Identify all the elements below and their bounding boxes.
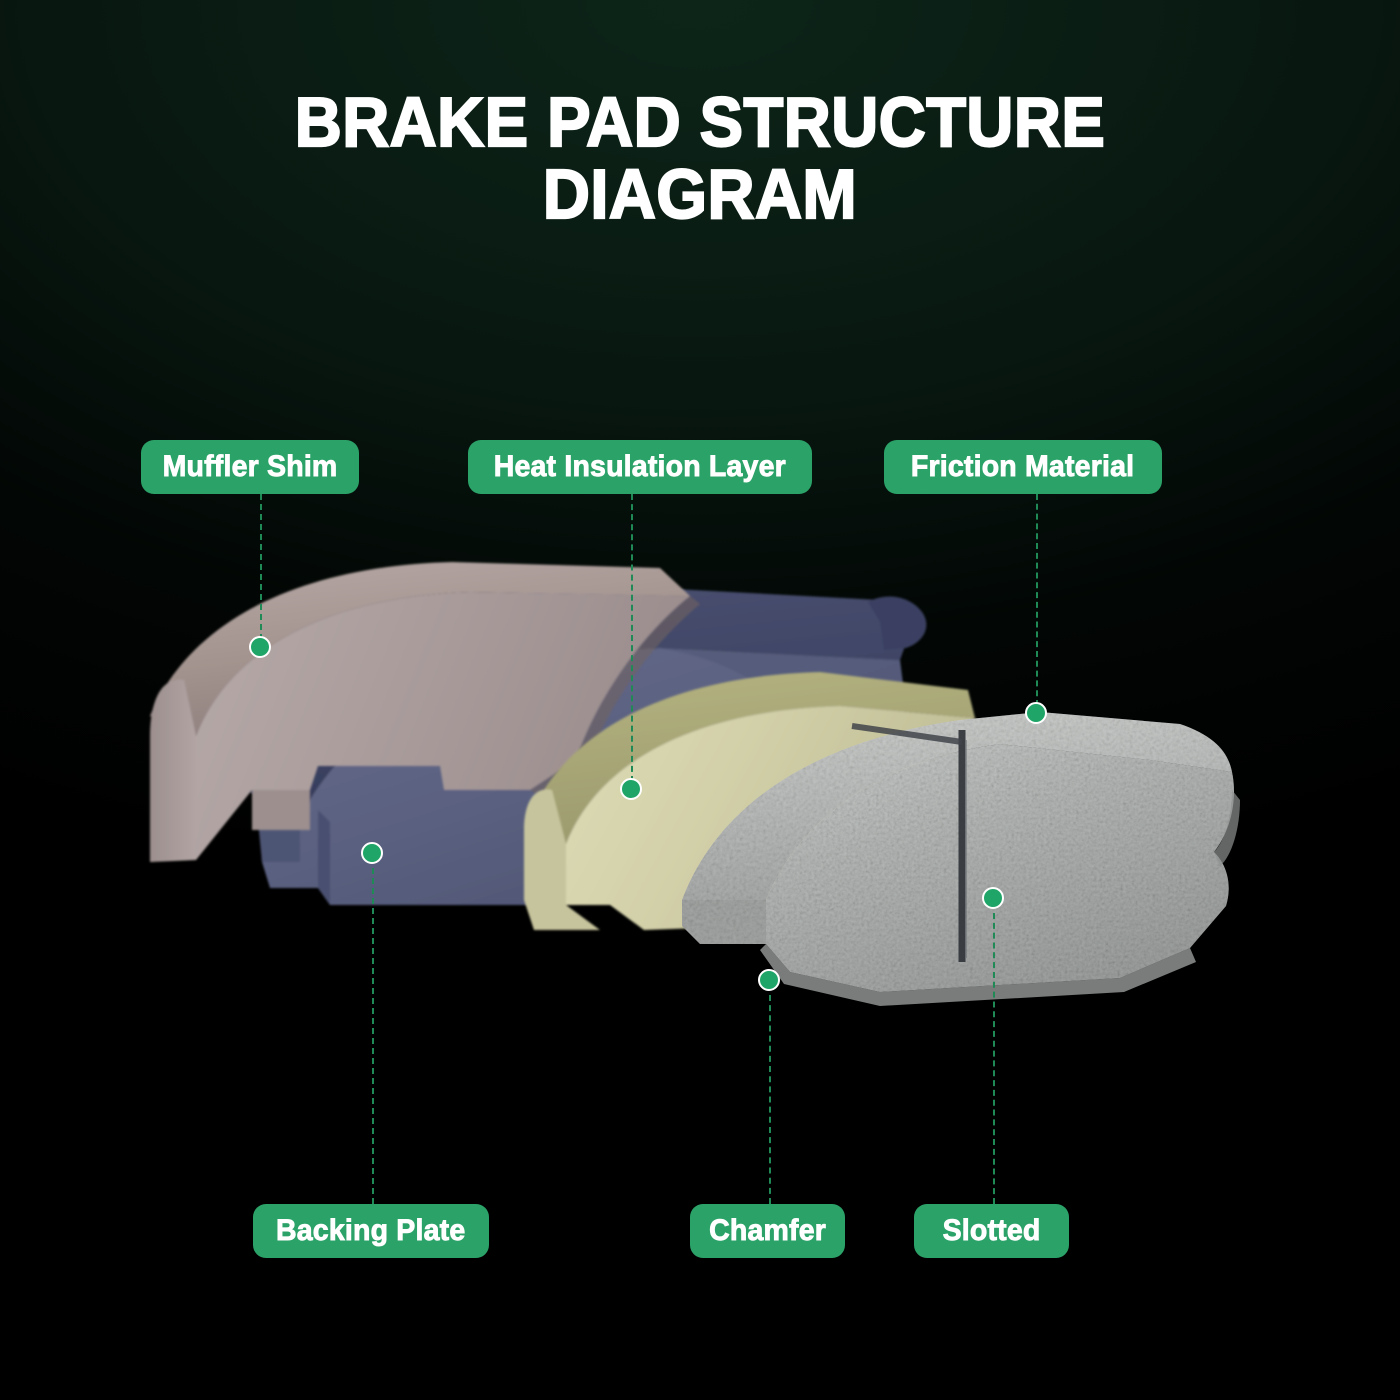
- marker-dot-heat-insulation-layer[interactable]: [620, 778, 642, 800]
- marker-dot-backing-plate[interactable]: [361, 842, 383, 864]
- callout-label-chamfer: Chamfer: [709, 1216, 826, 1246]
- muffler-shim-shape: [150, 562, 700, 862]
- leader-line-muffler-shim: [260, 494, 262, 640]
- marker-dot-friction-material[interactable]: [1025, 702, 1047, 724]
- callout-label-slotted: Slotted: [943, 1216, 1041, 1246]
- callout-slotted[interactable]: Slotted: [914, 1204, 1069, 1258]
- marker-dot-chamfer[interactable]: [758, 969, 780, 991]
- leader-line-slotted: [993, 913, 995, 1204]
- leader-line-heat-insulation-layer: [631, 494, 633, 782]
- leader-line-backing-plate: [372, 868, 374, 1204]
- leader-line-chamfer: [769, 995, 771, 1204]
- callout-backing-plate[interactable]: Backing Plate: [253, 1204, 489, 1258]
- callout-label-friction-material: Friction Material: [911, 452, 1134, 482]
- callout-label-backing-plate: Backing Plate: [276, 1216, 465, 1246]
- callout-friction-material[interactable]: Friction Material: [884, 440, 1162, 494]
- backing-plate-shape: [246, 585, 926, 905]
- page-title: BRAKE PAD STRUCTURE DIAGRAM: [0, 86, 1400, 230]
- callout-heat-insulation-layer[interactable]: Heat Insulation Layer: [468, 440, 812, 494]
- friction-material-shape: [682, 712, 1240, 1006]
- title-line-2: DIAGRAM: [49, 158, 1351, 230]
- heat-insulation-layer-shape: [524, 672, 984, 930]
- callout-chamfer[interactable]: Chamfer: [690, 1204, 845, 1258]
- title-line-1: BRAKE PAD STRUCTURE: [49, 86, 1351, 158]
- leader-line-friction-material: [1036, 494, 1038, 706]
- callout-muffler-shim[interactable]: Muffler Shim: [141, 440, 359, 494]
- marker-dot-muffler-shim[interactable]: [249, 636, 271, 658]
- marker-dot-slotted[interactable]: [982, 887, 1004, 909]
- callout-label-heat-insulation-layer: Heat Insulation Layer: [494, 452, 786, 482]
- callout-label-muffler-shim: Muffler Shim: [163, 452, 338, 482]
- diagram-canvas: BRAKE PAD STRUCTURE DIAGRAM: [0, 0, 1400, 1400]
